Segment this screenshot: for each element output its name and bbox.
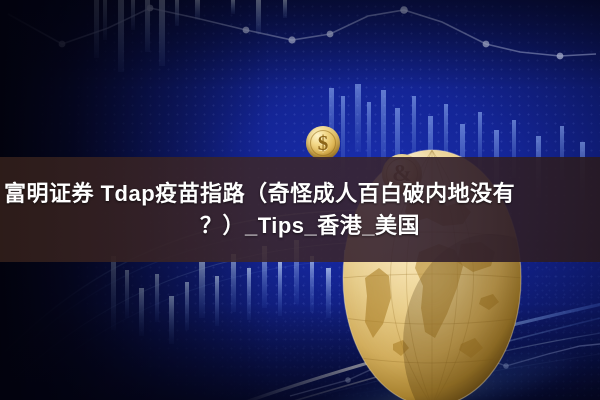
dollar-coin: $ (306, 126, 340, 160)
banner-image: $ & 富明证券 Tdap疫苗指路（奇怪成人百白破内地没有 ？）_Tips_香港… (0, 0, 600, 400)
coin-rim (310, 130, 337, 157)
page-title-line-1: 富明证券 Tdap疫苗指路（奇怪成人百白破内地没有 (0, 178, 515, 209)
title-overlay-band: 富明证券 Tdap疫苗指路（奇怪成人百白破内地没有 ？）_Tips_香港_美国 (0, 157, 600, 262)
page-title-line-2: ？）_Tips_香港_美国 (180, 210, 420, 241)
